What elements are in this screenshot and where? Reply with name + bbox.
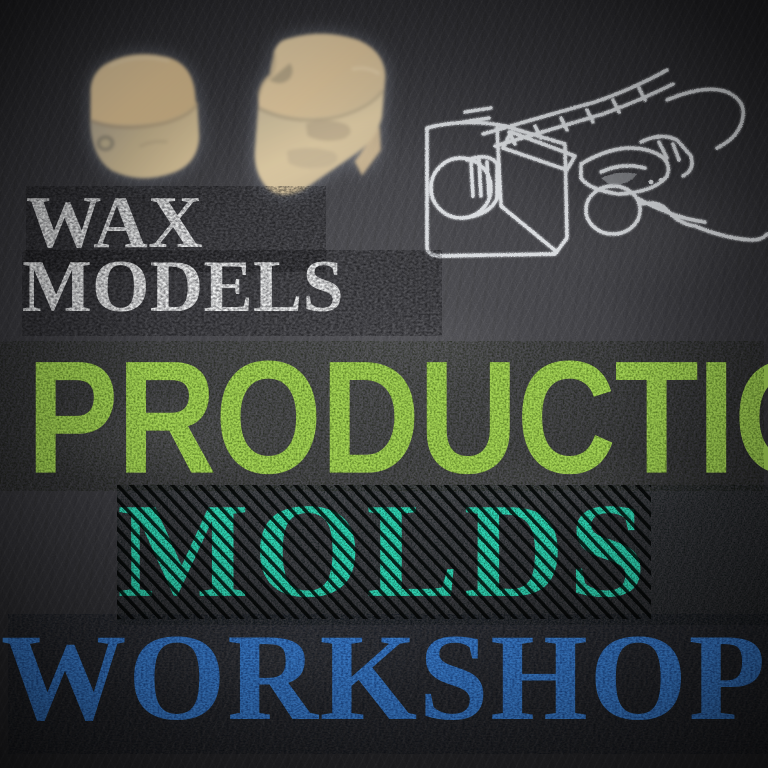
poster-vignette xyxy=(0,0,768,768)
poster-canvas: WAX MODELS PRODUCTION xyxy=(0,0,768,768)
